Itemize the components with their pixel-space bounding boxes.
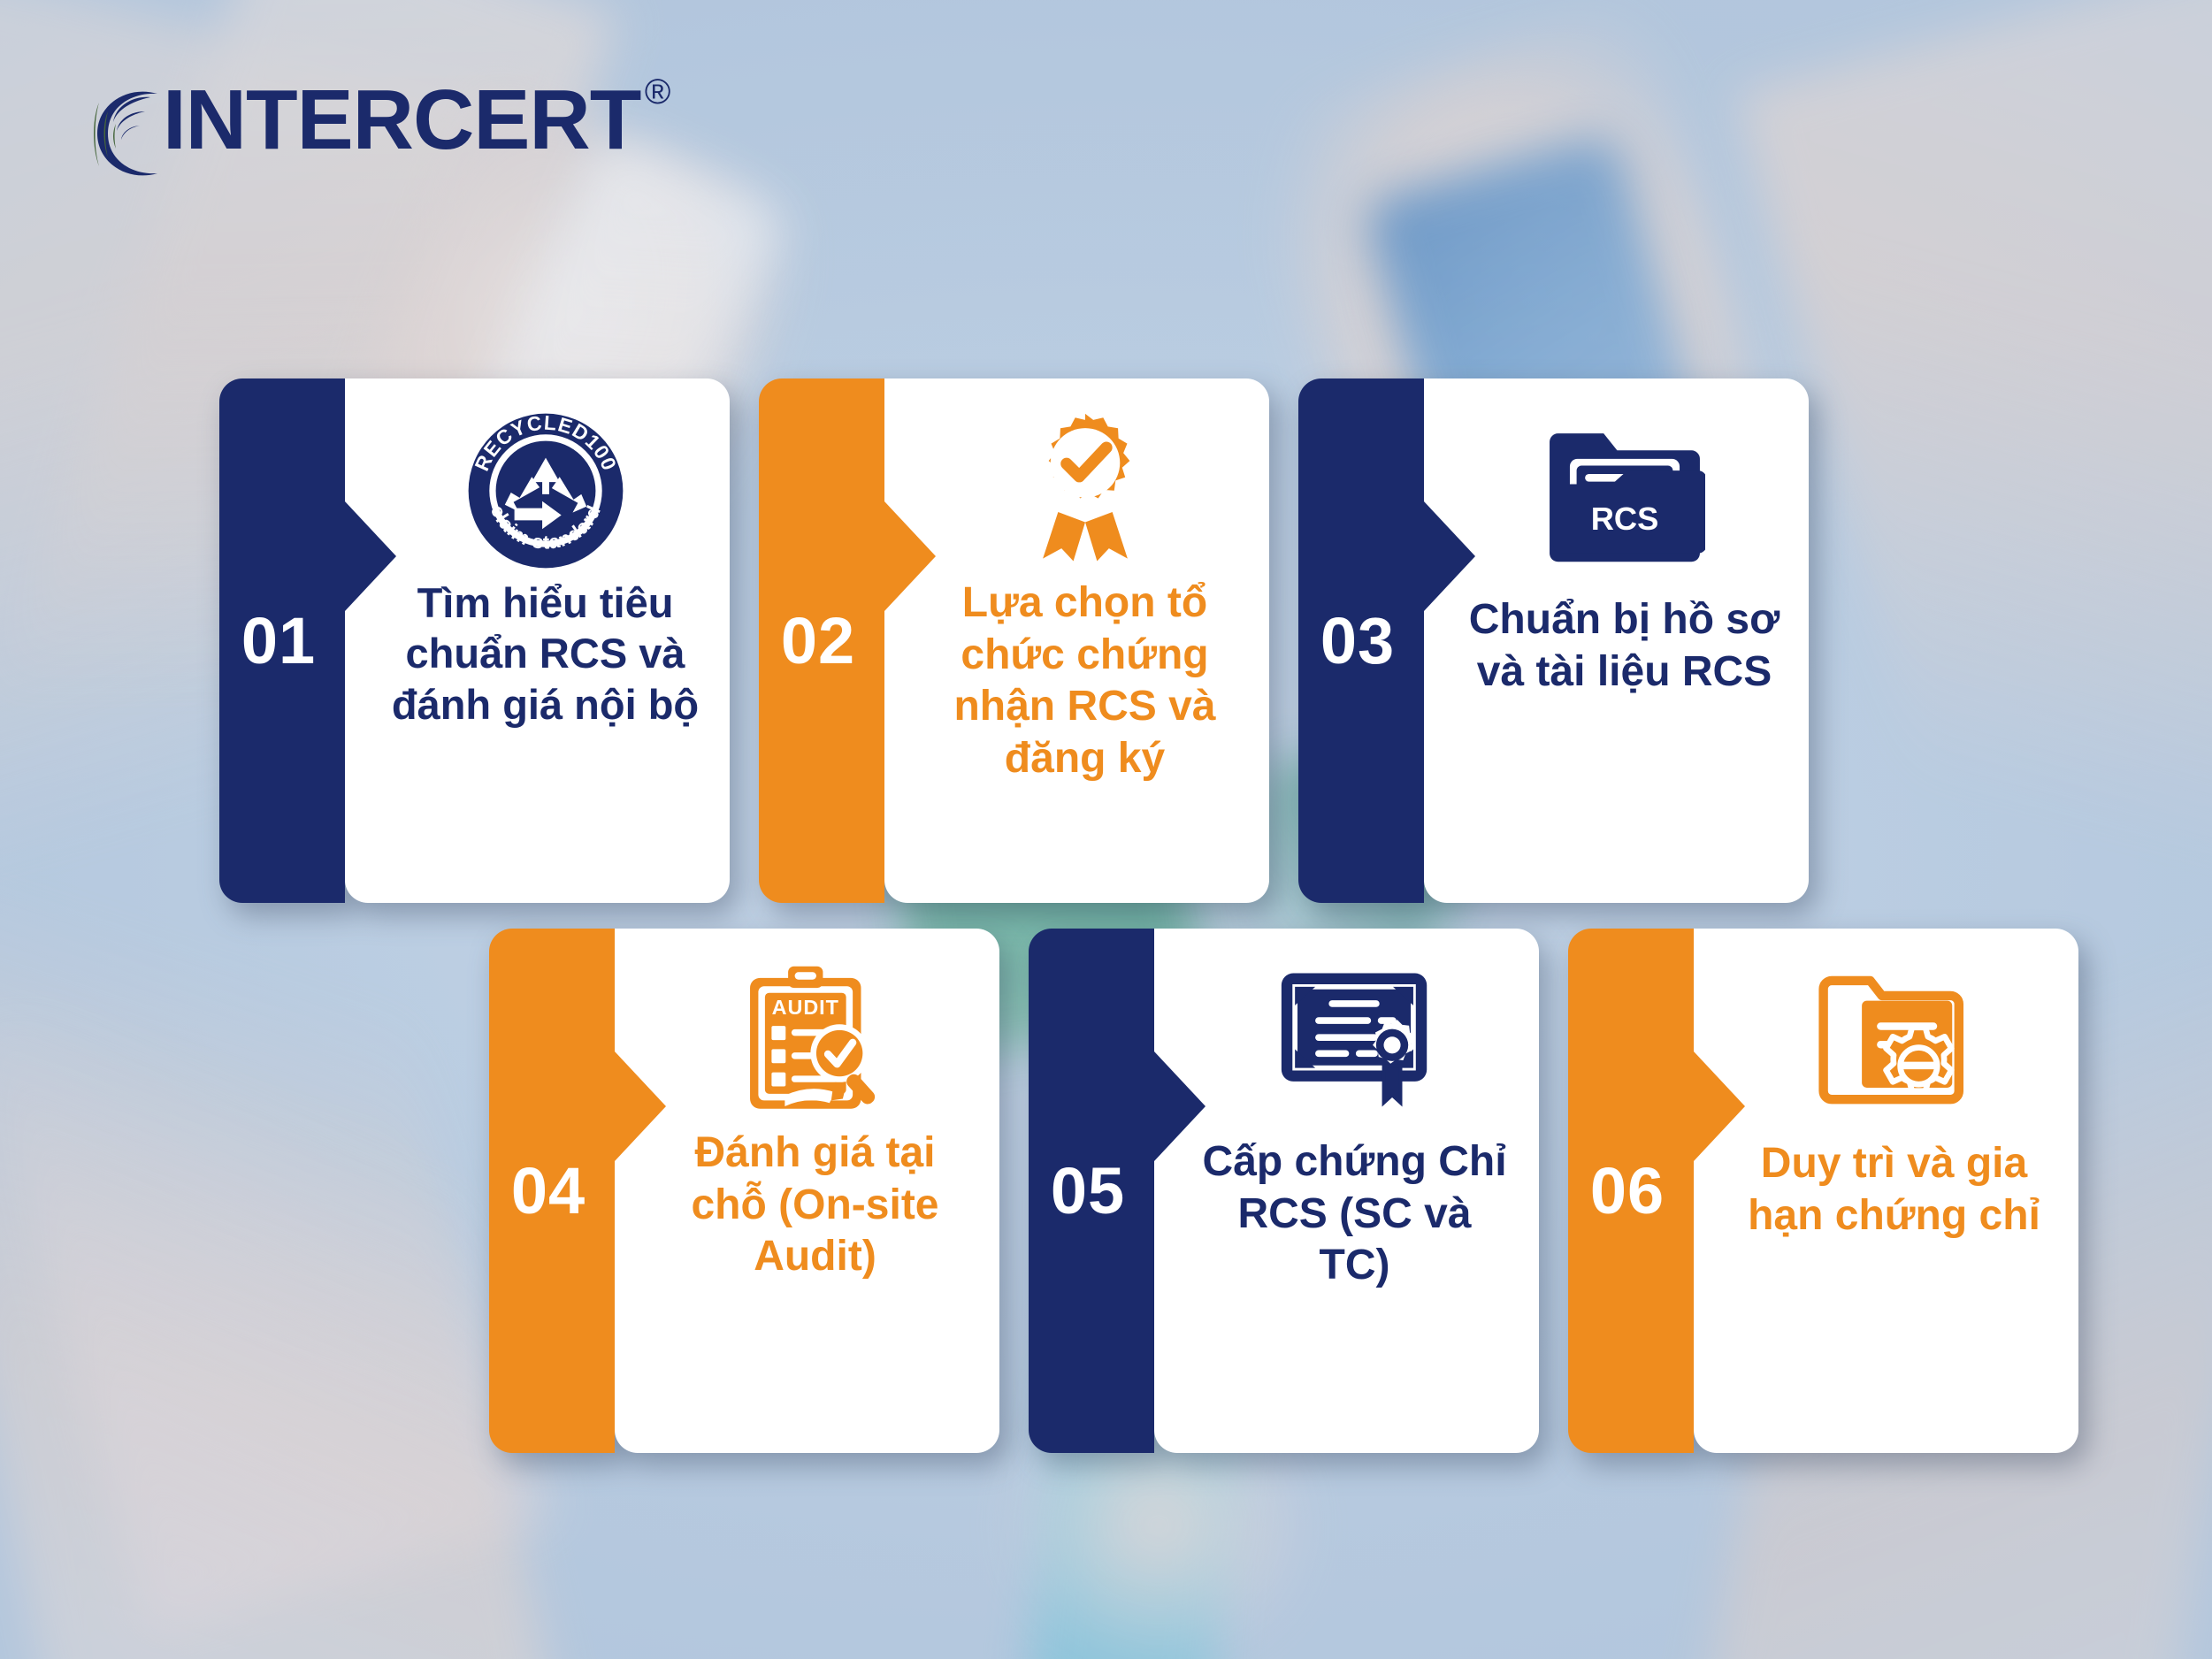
chevron-point-icon <box>1694 1051 1745 1161</box>
recycled-claim-standard-badge-icon: RECYCLED100 claim standard <box>465 409 626 572</box>
step-card-02[interactable]: 02 Lựa chọn tổ chức chứng nhận RCS và đă <box>759 378 1269 903</box>
step-label-04: Đánh giá tại chỗ (On-site Audit) <box>655 1128 975 1283</box>
step-number-tab-02: 02 <box>759 378 884 903</box>
folder-gear-icon <box>1817 959 1972 1122</box>
step-number-tab-04: 04 <box>489 929 615 1453</box>
award-rosette-check-icon <box>1007 409 1163 572</box>
step-number-tab-03: 03 <box>1298 378 1424 903</box>
step-number-tab-06: 06 <box>1568 929 1694 1453</box>
step-number-01: 01 <box>241 608 316 674</box>
chevron-point-icon <box>884 501 936 611</box>
chevron-point-icon <box>345 501 396 611</box>
step-card-05[interactable]: 05 <box>1029 929 1539 1453</box>
svg-text:AUDIT: AUDIT <box>771 996 838 1019</box>
chevron-point-icon <box>615 1051 666 1161</box>
chevron-point-icon <box>1154 1051 1206 1161</box>
globe-swoosh-icon <box>88 81 173 186</box>
step-panel-06: Duy trì và gia hạn chứng chỉ <box>1694 929 2078 1453</box>
step-label-02: Lựa chọn tổ chức chứng nhận RCS và đăng … <box>925 577 1244 784</box>
step-panel-03: RCS Chuẩn bị hồ sơ và tài liệu RCS <box>1424 378 1809 903</box>
step-number-06: 06 <box>1590 1158 1665 1224</box>
intercert-logo: INTERCERT ® <box>88 78 640 186</box>
svg-text:RCS: RCS <box>1590 501 1658 537</box>
step-label-03: Chuẩn bị hồ sơ và tài liệu RCS <box>1465 594 1784 698</box>
step-number-tab-01: 01 <box>219 378 345 903</box>
step-panel-05: Cấp chứng Chỉ RCS (SC và TC) <box>1154 929 1539 1453</box>
step-number-02: 02 <box>781 608 855 674</box>
step-panel-02: Lựa chọn tổ chức chứng nhận RCS và đăng … <box>884 378 1269 903</box>
logo-wordmark: INTERCERT <box>163 78 640 163</box>
step-panel-01: RECYCLED100 claim standard Tìm hiểu tiêu… <box>345 378 730 903</box>
step-number-tab-05: 05 <box>1029 929 1154 1453</box>
logo-wordmark-wrap: INTERCERT ® <box>163 78 640 163</box>
step-panel-04: AUDIT Đánh g <box>615 929 999 1453</box>
chevron-point-icon <box>1424 501 1475 611</box>
step-number-03: 03 <box>1320 608 1395 674</box>
step-row-top: 01 RECYCLED100 claim standard <box>219 378 1809 903</box>
step-number-05: 05 <box>1051 1158 1125 1224</box>
step-card-04[interactable]: 04 AUDIT <box>489 929 999 1453</box>
step-card-01[interactable]: 01 RECYCLED100 claim standard <box>219 378 730 903</box>
step-row-bottom: 04 AUDIT <box>489 929 2078 1453</box>
audit-clipboard-magnifier-icon: AUDIT <box>736 959 895 1122</box>
registered-trademark-icon: ® <box>645 73 670 112</box>
step-label-05: Cấp chứng Chỉ RCS (SC và TC) <box>1195 1136 1514 1292</box>
certificate-seal-icon <box>1276 959 1434 1122</box>
step-card-06[interactable]: 06 Duy trì và gia hạn chứng chỉ <box>1568 929 2078 1453</box>
step-label-06: Duy trì và gia hạn chứng chỉ <box>1734 1138 2054 1242</box>
rcs-folder-icon: RCS <box>1544 409 1705 577</box>
step-label-01: Tìm hiểu tiêu chuẩn RCS và đánh giá nội … <box>386 577 705 730</box>
step-card-03[interactable]: 03 RCS Chuẩn bị hồ sơ và tài liệu RCS <box>1298 378 1809 903</box>
step-number-04: 04 <box>511 1158 586 1224</box>
